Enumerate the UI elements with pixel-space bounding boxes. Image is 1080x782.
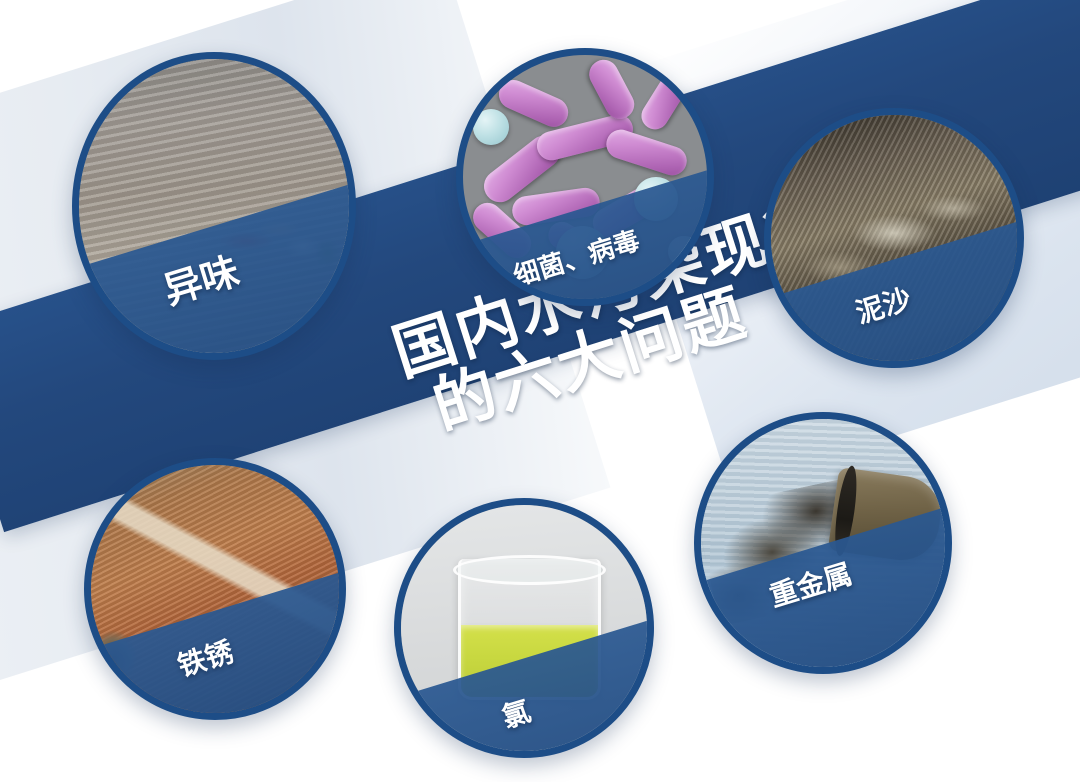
item-label-silt: 泥沙 bbox=[851, 277, 916, 332]
item-label-germ: 细菌、病毒 bbox=[508, 220, 643, 293]
item-circle-germ[interactable]: 细菌、病毒 bbox=[456, 48, 714, 306]
item-circle-chlorine[interactable]: 氯 bbox=[394, 498, 654, 758]
item-circle-silt[interactable]: 泥沙 bbox=[764, 108, 1024, 368]
item-label-odor: 异味 bbox=[156, 240, 245, 315]
item-circle-heavy-metal[interactable]: 重金属 bbox=[694, 412, 952, 674]
poster-canvas: 国内水污染现状 的六大问题 异味 细菌、病毒 bbox=[0, 0, 1080, 782]
item-circle-odor[interactable]: 异味 bbox=[72, 52, 356, 360]
item-label-chlorine: 氯 bbox=[497, 690, 535, 736]
item-label-heavy-metal: 重金属 bbox=[764, 552, 856, 615]
item-circle-rust[interactable]: 铁锈 bbox=[84, 458, 346, 720]
item-label-rust: 铁锈 bbox=[172, 630, 237, 685]
